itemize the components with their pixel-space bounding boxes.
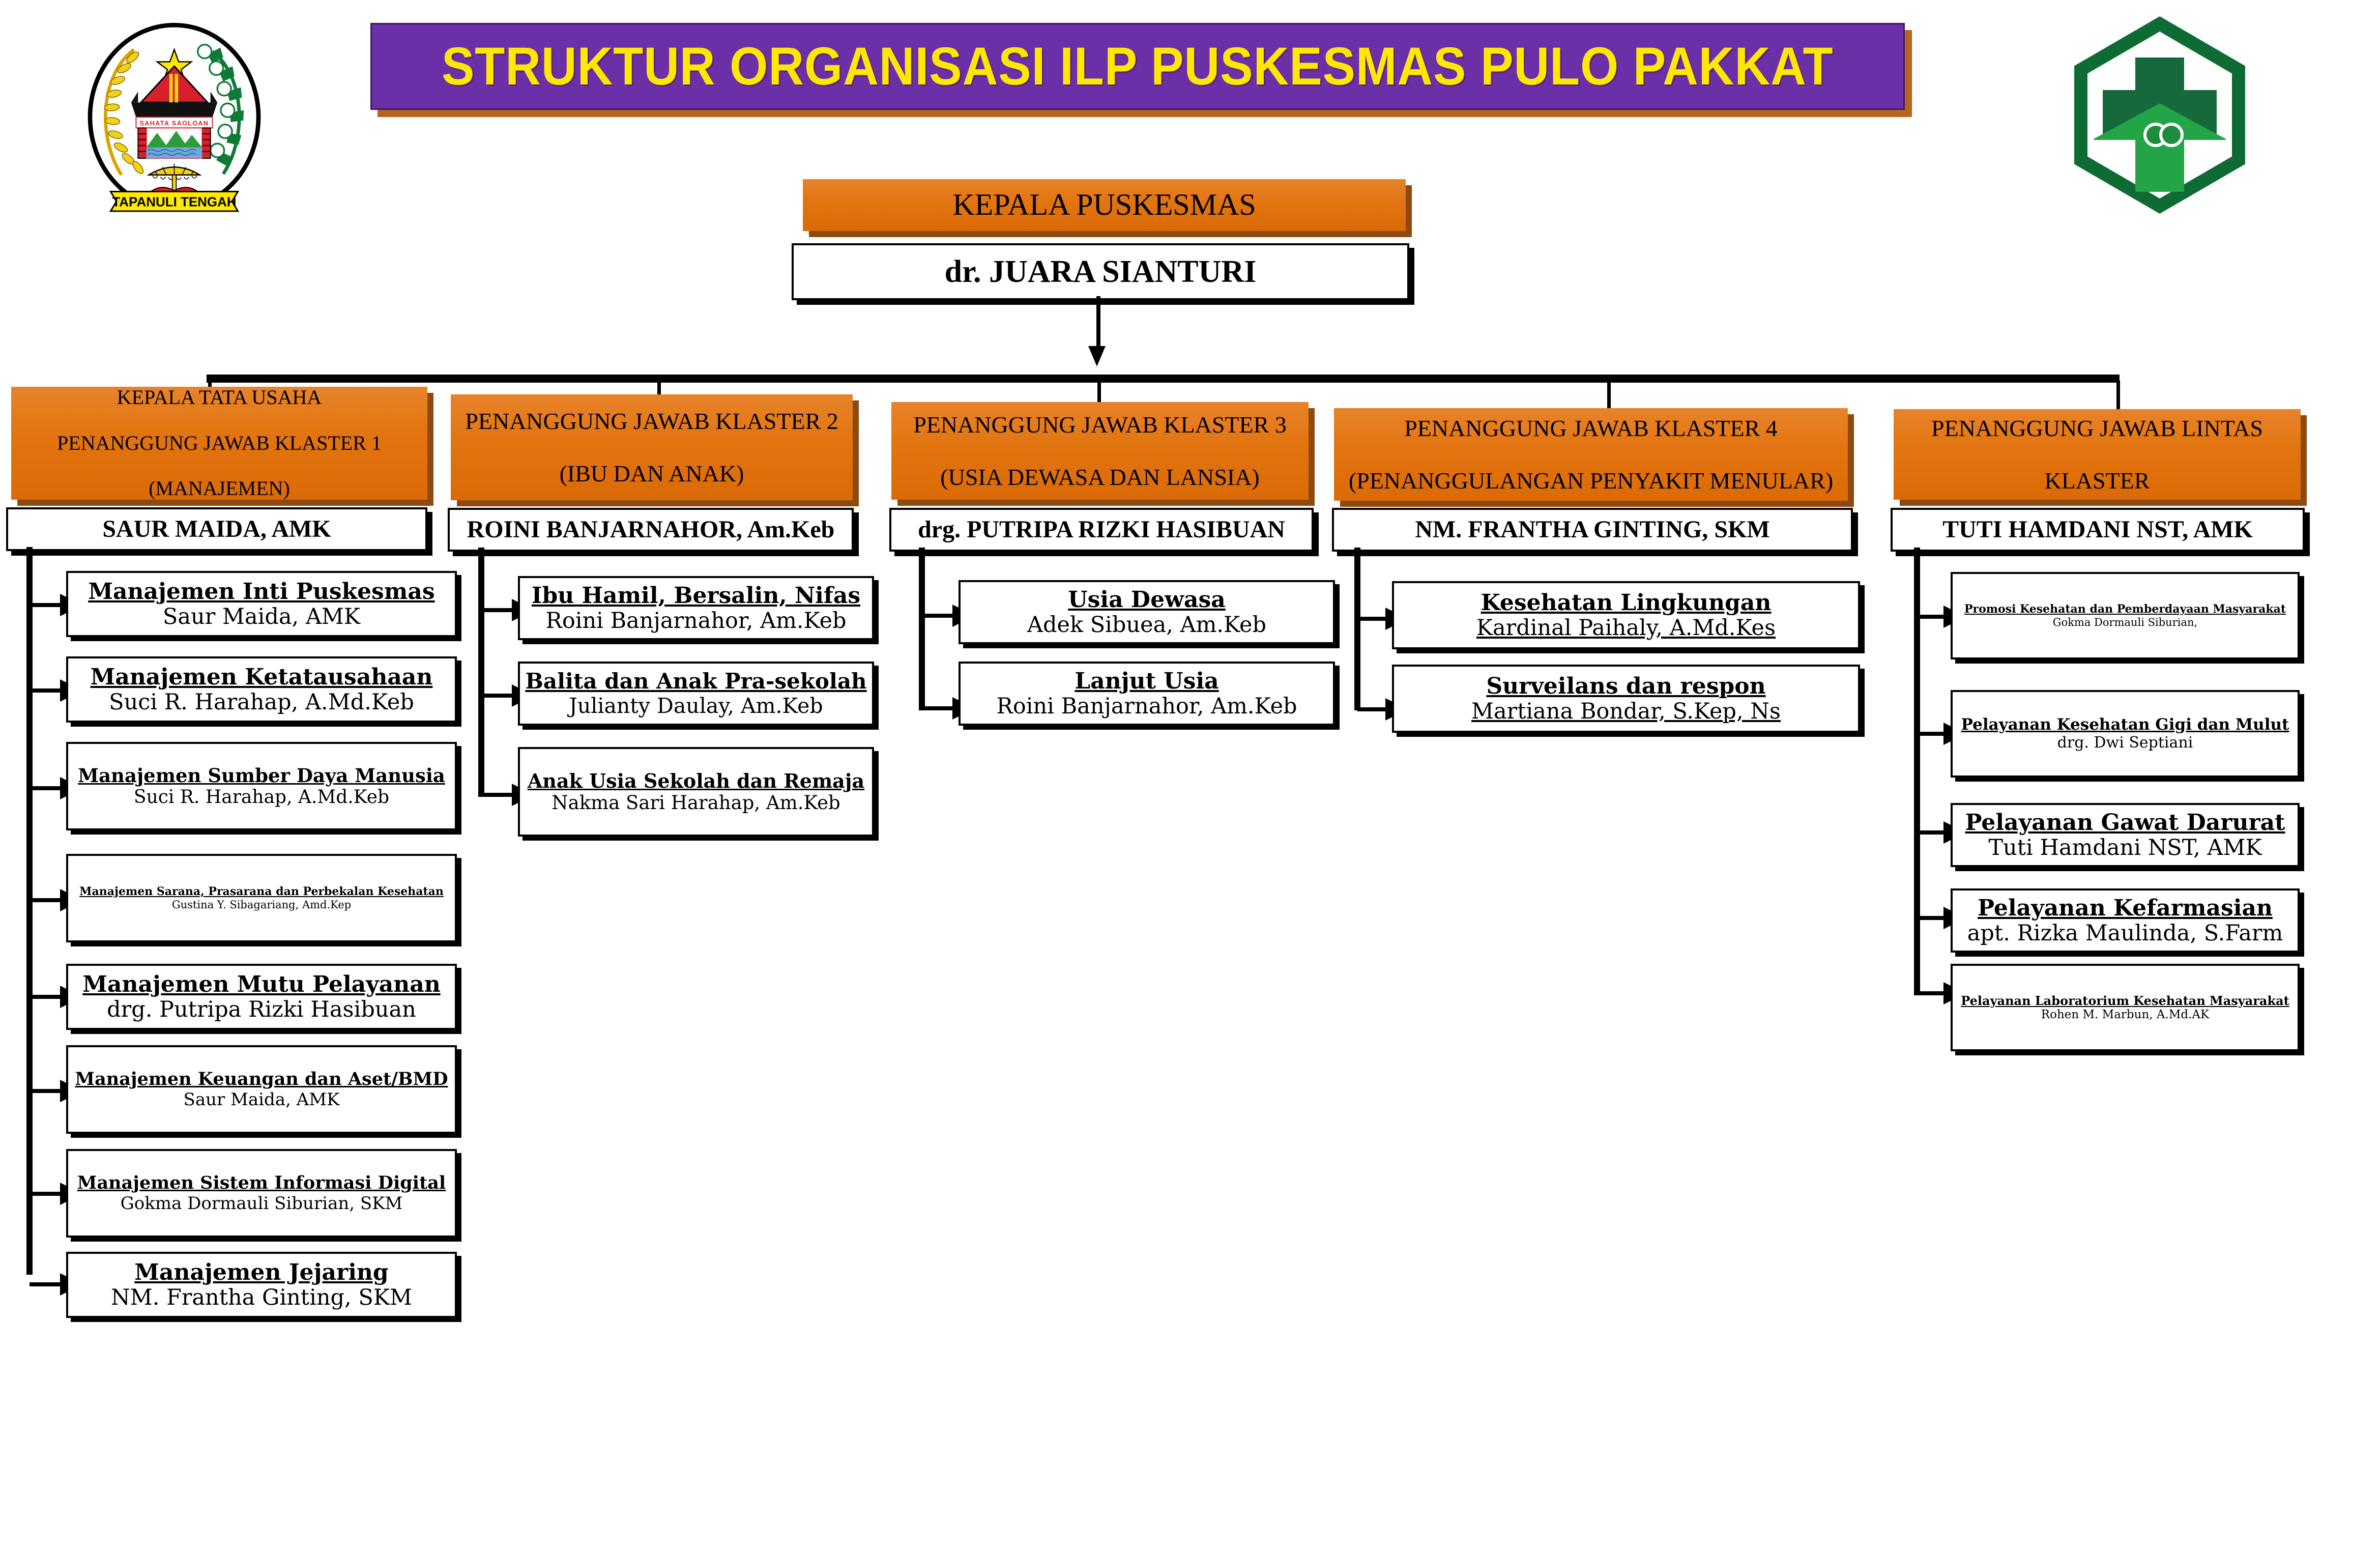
sub-box-title: Promosi Kesehatan dan Pemberdayaan Masya… (1964, 603, 2286, 616)
sub-box-klaster-2-2: Anak Usia Sekolah dan Remaja Nakma Sari … (518, 747, 874, 837)
sub-box-person: NM. Frantha Ginting, SKM (111, 1285, 412, 1311)
lintas-klaster-branch (1917, 732, 1947, 736)
sub-box-title: Anak Usia Sekolah dan Remaja (528, 770, 864, 792)
klaster-3-branch (922, 706, 955, 710)
sub-box-person: Saur Maida, AMK (184, 1090, 340, 1110)
cluster-title-klaster-4: PENANGGUNG JAWAB KLASTER 4 (PENANGGULANG… (1339, 415, 1843, 494)
cluster-header-lintas-klaster: PENANGGUNG JAWAB LINTAS KLASTER (1894, 409, 2301, 500)
sub-box-klaster-4-0: Kesehatan Lingkungan Kardinal Paihaly, A… (1392, 581, 1860, 649)
cluster-name-label: TUTI HAMDANI NST, AMK (1942, 516, 2253, 543)
cluster-name-label: drg. PUTRIPA RIZKI HASIBUAN (918, 516, 1285, 543)
sub-box-lintas-klaster-1: Pelayanan Kesehatan Gigi dan Mulut drg. … (1951, 690, 2300, 778)
sub-box-klaster-1-7: Manajemen Jejaring NM. Frantha Ginting, … (66, 1252, 457, 1318)
sub-box-title: Manajemen Jejaring (134, 1259, 388, 1285)
sub-box-title: Manajemen Keuangan dan Aset/BMD (75, 1069, 448, 1090)
klaster-1-branch (30, 603, 63, 607)
emblem-ribbon-label: TAPANULI TENGAH (112, 194, 236, 209)
page-title-banner: STRUKTUR ORGANISASI ILP PUSKESMAS PULO P… (370, 23, 1905, 110)
sub-box-title: Manajemen Ketatausahaan (91, 664, 433, 690)
sub-box-klaster-2-0: Ibu Hamil, Bersalin, Nifas Roini Banjarn… (518, 576, 874, 640)
cluster-name-klaster-3: drg. PUTRIPA RIZKI HASIBUAN (889, 508, 1314, 552)
cluster-title-line: (IBU DAN ANAK) (460, 461, 844, 487)
sub-box-title: Usia Dewasa (1068, 587, 1226, 613)
sub-box-title: Manajemen Sumber Daya Manusia (78, 765, 445, 787)
sub-box-person: Saur Maida, AMK (163, 605, 360, 630)
sub-box-person: Gokma Dormauli Siburian, (2053, 616, 2197, 628)
klaster-1-branch (30, 1089, 63, 1093)
cluster-bus-line (207, 375, 2120, 383)
sub-box-klaster-3-0: Usia Dewasa Adek Sibuea, Am.Keb (959, 580, 1335, 644)
cluster-title-line: PENANGGUNG JAWAB KLASTER 4 (1344, 415, 1838, 442)
lintas-klaster-branch (1917, 916, 1947, 920)
cluster-name-label: SAUR MAIDA, AMK (102, 516, 331, 543)
lintas-klaster-branch (1917, 830, 1947, 835)
root-name-box: dr. JUARA SIANTURI (792, 243, 1409, 300)
puskesmas-logo-svg (2058, 13, 2261, 216)
klaster-2-branch (481, 608, 514, 612)
sub-box-title: Pelayanan Kefarmasian (1978, 895, 2273, 921)
klaster-3-trunk (919, 548, 925, 710)
cluster-title-line: (MANAJEMEN) (52, 477, 387, 500)
sub-box-person: Tuti Hamdani NST, AMK (1988, 836, 2261, 861)
cluster-title-line: PENANGGUNG JAWAB KLASTER 1 (52, 432, 387, 455)
cluster-name-klaster-1: SAUR MAIDA, AMK (6, 507, 427, 551)
cluster-header-klaster-2: PENANGGUNG JAWAB KLASTER 2 (IBU DAN ANAK… (451, 394, 853, 500)
sub-box-person: Kardinal Paihaly, A.Md.Kes (1476, 616, 1776, 641)
klaster-1-branch (30, 1192, 63, 1196)
cluster-title-klaster-1: KEPALA TATA USAHA PENANGGUNG JAWAB KLAST… (47, 386, 392, 500)
sub-box-person: Rohen M. Marbun, A.Md.AK (2041, 1008, 2209, 1022)
sub-box-klaster-4-1: Surveilans dan respon Martiana Bondar, S… (1392, 665, 1860, 733)
cluster-title-line: PENANGGUNG JAWAB LINTAS (1926, 415, 2268, 442)
sub-box-person: apt. Rizka Maulinda, S.Farm (1967, 921, 2283, 946)
cluster-title-line: (USIA DEWASA DAN LANSIA) (908, 464, 1292, 491)
sub-box-person: Adek Sibuea, Am.Keb (1027, 613, 1266, 638)
root-title-box: KEPALA PUSKESMAS (803, 179, 1406, 231)
sub-box-title: Pelayanan Gawat Darurat (1965, 810, 2285, 836)
sub-box-title: Surveilans dan respon (1486, 673, 1765, 699)
sub-box-klaster-2-1: Balita dan Anak Pra-sekolah Julianty Dau… (518, 662, 874, 726)
sub-box-klaster-1-6: Manajemen Sistem Informasi Digital Gokma… (66, 1149, 457, 1238)
cluster-name-label: NM. FRANTHA GINTING, SKM (1415, 516, 1769, 543)
sub-box-lintas-klaster-3: Pelayanan Kefarmasian apt. Rizka Maulind… (1951, 888, 2300, 953)
root-name: dr. JUARA SIANTURI (945, 254, 1257, 289)
cluster-title-line: (PENANGGULANGAN PENYAKIT MENULAR) (1344, 468, 1838, 494)
sub-box-person: Julianty Daulay, Am.Keb (569, 694, 823, 719)
lintas-klaster-branch (1917, 991, 1947, 995)
cluster-title-line: PENANGGUNG JAWAB KLASTER 2 (460, 408, 844, 435)
sub-box-person: Gokma Dormauli Siburian, SKM (121, 1194, 403, 1214)
lintas-klaster-branch (1917, 615, 1947, 619)
sub-box-klaster-3-1: Lanjut Usia Roini Banjarnahor, Am.Keb (959, 662, 1335, 726)
klaster-1-branch (30, 898, 63, 902)
sub-box-title: Manajemen Sarana, Prasarana dan Perbekal… (79, 885, 444, 899)
klaster-1-branch (30, 786, 63, 790)
sub-box-person: Martiana Bondar, S.Kep, Ns (1471, 699, 1781, 725)
sub-box-title: Kesehatan Lingkungan (1481, 590, 1772, 616)
sub-box-person: Gustina Y. Sibagariang, Amd.Kep (172, 899, 351, 911)
cluster-name-label: ROINI BANJARNAHOR, Am.Keb (467, 516, 835, 543)
klaster-2-trunk (478, 548, 484, 797)
cluster-name-klaster-4: NM. FRANTHA GINTING, SKM (1332, 508, 1853, 552)
sub-box-title: Balita dan Anak Pra-sekolah (525, 669, 866, 694)
cluster-title-line: PENANGGUNG JAWAB KLASTER 3 (908, 412, 1292, 438)
cluster-title-klaster-2: PENANGGUNG JAWAB KLASTER 2 (IBU DAN ANAK… (455, 408, 849, 487)
sub-box-title: Pelayanan Kesehatan Gigi dan Mulut (1961, 716, 2289, 734)
cluster-header-klaster-4: PENANGGUNG JAWAB KLASTER 4 (PENANGGULANG… (1334, 408, 1848, 501)
klaster-1-branch (30, 688, 63, 693)
sub-box-person: Roini Banjarnahor, Am.Keb (545, 609, 846, 634)
sub-box-person: Suci R. Harahap, A.Md.Keb (134, 787, 389, 808)
sub-box-klaster-1-3: Manajemen Sarana, Prasarana dan Perbekal… (66, 854, 457, 942)
cluster-name-klaster-2: ROINI BANJARNAHOR, Am.Keb (448, 508, 854, 552)
sub-box-title: Manajemen Sistem Informasi Digital (77, 1173, 446, 1194)
sub-box-lintas-klaster-2: Pelayanan Gawat Darurat Tuti Hamdani NST… (1951, 803, 2300, 867)
cluster-title-lintas-klaster: PENANGGUNG JAWAB LINTAS KLASTER (1921, 415, 2273, 494)
root-arrow-icon (1088, 346, 1106, 366)
sub-box-klaster-1-1: Manajemen Ketatausahaan Suci R. Harahap,… (66, 656, 457, 723)
sub-box-klaster-1-2: Manajemen Sumber Daya Manusia Suci R. Ha… (66, 742, 457, 830)
klaster-4-trunk (1354, 548, 1360, 710)
sub-box-title: Ibu Hamil, Bersalin, Nifas (532, 583, 860, 609)
sub-box-title: Lanjut Usia (1075, 668, 1218, 694)
sub-box-title: Manajemen Inti Puskesmas (88, 579, 434, 605)
sub-box-klaster-1-0: Manajemen Inti Puskesmas Saur Maida, AMK (66, 571, 457, 637)
sub-box-klaster-1-5: Manajemen Keuangan dan Aset/BMD Saur Mai… (66, 1045, 457, 1134)
sub-box-person: Roini Banjarnahor, Am.Keb (996, 694, 1297, 720)
sub-box-person: Suci R. Harahap, A.Md.Keb (109, 690, 414, 715)
emblem-motto: SAHATA SAOLOAN (140, 120, 209, 127)
sub-box-person: drg. Putripa Rizki Hasibuan (107, 997, 416, 1023)
klaster-1-branch (30, 1282, 63, 1286)
sub-box-klaster-1-4: Manajemen Mutu Pelayanan drg. Putripa Ri… (66, 964, 457, 1030)
puskesmas-logo (2058, 13, 2261, 216)
klaster-3-branch (922, 614, 955, 618)
cluster-title-line: KLASTER (1926, 468, 2268, 494)
klaster-1-trunk (26, 547, 33, 1275)
emblem-svg: SAHATA SAOLOAN TAPANULI TENGAH (76, 18, 272, 221)
klaster-2-branch (481, 694, 514, 698)
root-title: KEPALA PUSKESMAS (947, 188, 1261, 222)
sub-box-person: drg. Dwi Septiani (2057, 734, 2193, 752)
cluster-header-klaster-1: KEPALA TATA USAHA PENANGGUNG JAWAB KLAST… (11, 387, 427, 500)
cluster-name-lintas-klaster: TUTI HAMDANI NST, AMK (1891, 508, 2305, 552)
sub-box-lintas-klaster-0: Promosi Kesehatan dan Pemberdayaan Masya… (1951, 572, 2300, 659)
sub-box-lintas-klaster-4: Pelayanan Laboratorium Kesehatan Masyara… (1951, 964, 2300, 1051)
sub-box-title: Manajemen Mutu Pelayanan (82, 971, 441, 997)
cluster-header-klaster-3: PENANGGUNG JAWAB KLASTER 3 (USIA DEWASA … (891, 402, 1309, 500)
sub-box-title: Pelayanan Laboratorium Kesehatan Masyara… (1961, 994, 2289, 1008)
klaster-1-branch (30, 995, 63, 999)
page-title: STRUKTUR ORGANISASI ILP PUSKESMAS PULO P… (442, 36, 1834, 97)
cluster-title-line: KEPALA TATA USAHA (52, 386, 387, 409)
klaster-4-branch (1357, 707, 1388, 711)
sub-box-person: Nakma Sari Harahap, Am.Keb (552, 792, 840, 814)
tapanuli-tengah-emblem: SAHATA SAOLOAN TAPANULI TENGAH (76, 18, 272, 221)
klaster-2-branch (481, 793, 514, 797)
klaster-4-branch (1357, 617, 1388, 621)
cluster-title-klaster-3: PENANGGUNG JAWAB KLASTER 3 (USIA DEWASA … (903, 412, 1297, 491)
root-drop-line (1096, 296, 1100, 352)
